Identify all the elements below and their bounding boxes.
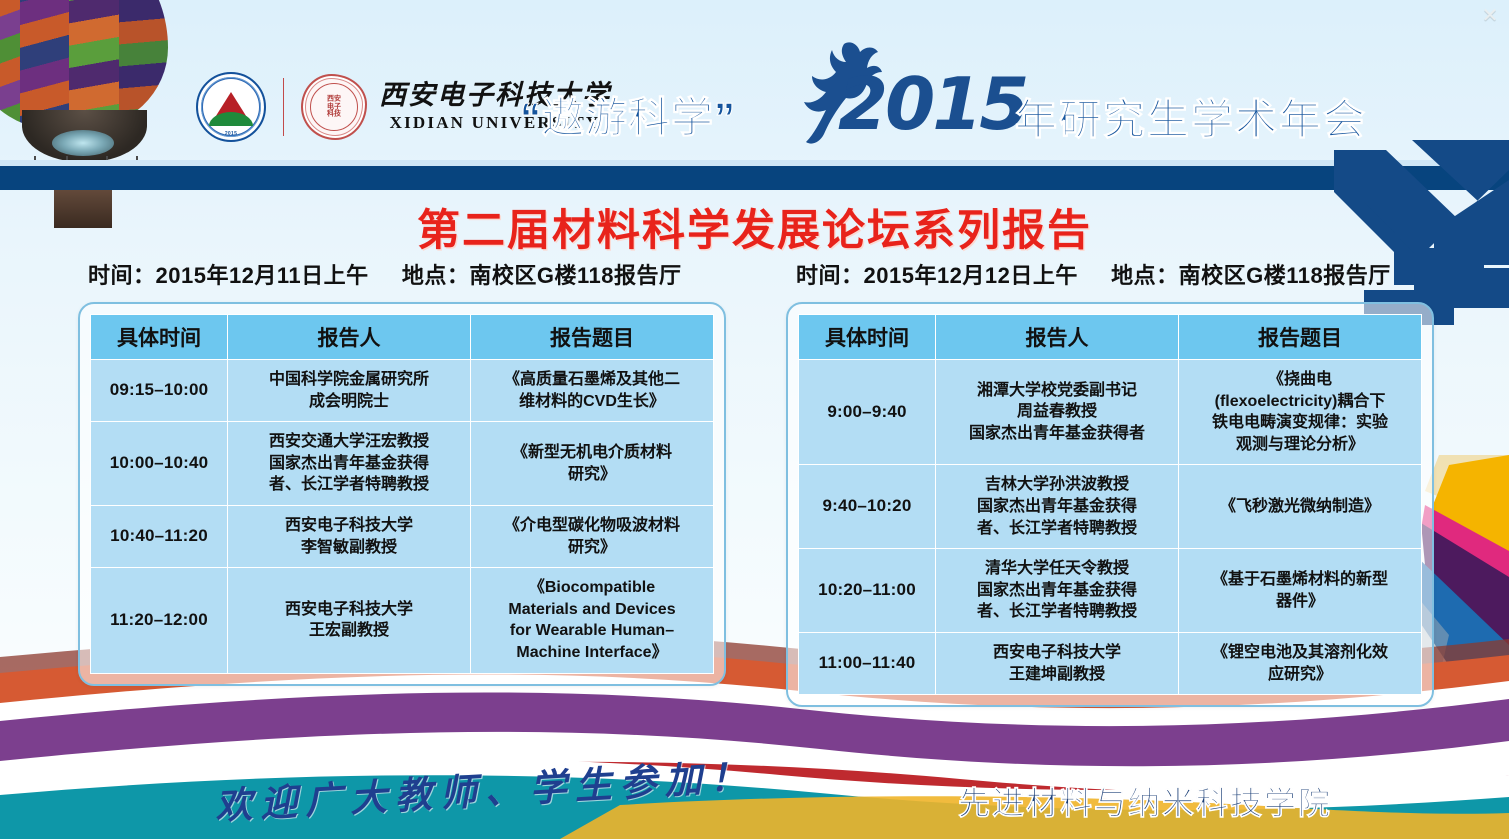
cell-time: 09:15–10:00: [91, 360, 228, 422]
logo-divider: [283, 78, 284, 136]
cell-time: 10:40–11:20: [91, 505, 228, 567]
year-logo-graphic: 2015: [800, 38, 1010, 146]
cell-time: 10:20–11:00: [799, 549, 936, 633]
table-row: 09:15–10:00 中国科学院金属研究所成会明院士 《高质量石墨烯及其他二维…: [91, 360, 714, 422]
schedule-day2: 时间：2015年12月12日上午 地点：南校区G楼118报告厅 具体时间 报告人…: [786, 258, 1434, 707]
emblem-year-label: 2015: [225, 131, 237, 137]
welcome-message: 欢迎广大教师、学生参加！: [213, 746, 755, 830]
cell-speaker: 西安电子科技大学王宏副教授: [228, 568, 471, 673]
header-rule-dark: [0, 166, 1509, 190]
page-title: 第二届材料科学发展论坛系列报告: [0, 196, 1509, 258]
poster-header: 2015 西安电子科技 西安电子科技大学 XIDIAN UNIVERSITY “…: [0, 0, 1509, 166]
day2-meta: 时间：2015年12月12日上午 地点：南校区G楼118报告厅: [796, 258, 1434, 290]
column-header-speaker: 报告人: [936, 315, 1179, 360]
column-header-speaker: 报告人: [228, 315, 471, 360]
cell-title: 《高质量石墨烯及其他二维材料的CVD生长》: [471, 360, 714, 422]
conference-slogan: “遨游科学”: [520, 84, 736, 145]
cell-speaker: 中国科学院金属研究所成会明院士: [228, 360, 471, 422]
cell-title: 《介电型碳化物吸波材料研究》: [471, 505, 714, 567]
cell-title: 《BiocompatibleMaterials and Devicesfor W…: [471, 568, 714, 673]
table-row: 10:00–10:40 西安交通大学汪宏教授国家杰出青年基金获得者、长江学者特聘…: [91, 422, 714, 506]
schedule-day1: 时间：2015年12月11日上午 地点：南校区G楼118报告厅 具体时间 报告人…: [78, 258, 726, 686]
day1-place-label: 地点：南校区G楼118报告厅: [402, 263, 682, 288]
day2-place-label: 地点：南校区G楼118报告厅: [1111, 263, 1391, 288]
conference-title-suffix: 年研究生学术年会: [1015, 86, 1367, 147]
cell-title: 《锂空电池及其溶剂化效应研究》: [1179, 632, 1422, 694]
table-header-row: 具体时间 报告人 报告题目: [799, 315, 1422, 360]
cell-time: 10:00–10:40: [91, 422, 228, 506]
day1-meta: 时间：2015年12月11日上午 地点：南校区G楼118报告厅: [88, 258, 726, 290]
column-header-title: 报告题目: [1179, 315, 1422, 360]
table-header-row: 具体时间 报告人 报告题目: [91, 315, 714, 360]
cell-speaker: 西安交通大学汪宏教授国家杰出青年基金获得者、长江学者特聘教授: [228, 422, 471, 506]
cell-title: 《新型无机电介质材料研究》: [471, 422, 714, 506]
column-header-time: 具体时间: [799, 315, 936, 360]
cell-time: 9:00–9:40: [799, 360, 936, 465]
column-header-time: 具体时间: [91, 315, 228, 360]
table-row: 9:40–10:20 吉林大学孙洪波教授国家杰出青年基金获得者、长江学者特聘教授…: [799, 465, 1422, 549]
day2-time-label: 时间：2015年12月12日上午: [796, 263, 1078, 288]
cell-speaker: 清华大学任天令教授国家杰出青年基金获得者、长江学者特聘教授: [936, 549, 1179, 633]
cell-speaker: 西安电子科技大学王建坤副教授: [936, 632, 1179, 694]
table-row: 9:00–9:40 湘潭大学校党委副书记周益春教授国家杰出青年基金获得者 《挠曲…: [799, 360, 1422, 465]
poster-canvas: 2015 西安电子科技 西安电子科技大学 XIDIAN UNIVERSITY “…: [0, 0, 1509, 839]
cell-title: 《基于石墨烯材料的新型器件》: [1179, 549, 1422, 633]
conference-emblem-icon: 2015: [196, 72, 266, 142]
cell-speaker: 西安电子科技大学李智敏副教授: [228, 505, 471, 567]
cell-title: 《飞秒激光微纳制造》: [1179, 465, 1422, 549]
column-header-title: 报告题目: [471, 315, 714, 360]
cell-time: 11:20–12:00: [91, 568, 228, 673]
organizing-college: 先进材料与纳米科技学院: [958, 778, 1332, 824]
table-row: 11:20–12:00 西安电子科技大学王宏副教授 《Biocompatible…: [91, 568, 714, 673]
cell-title: 《挠曲电(flexoelectricity)耦合下铁电电畴演变规律：实验观测与理…: [1179, 360, 1422, 465]
xidian-seal-icon: 西安电子科技: [301, 74, 367, 140]
table-row: 10:20–11:00 清华大学任天令教授国家杰出青年基金获得者、长江学者特聘教…: [799, 549, 1422, 633]
table-row: 11:00–11:40 西安电子科技大学王建坤副教授 《锂空电池及其溶剂化效应研…: [799, 632, 1422, 694]
close-icon[interactable]: ✕: [1479, 5, 1501, 27]
day2-table-container: 具体时间 报告人 报告题目 9:00–9:40 湘潭大学校党委副书记周益春教授国…: [786, 302, 1434, 707]
cell-time: 11:00–11:40: [799, 632, 936, 694]
cell-speaker: 吉林大学孙洪波教授国家杰出青年基金获得者、长江学者特聘教授: [936, 465, 1179, 549]
day1-table-container: 具体时间 报告人 报告题目 09:15–10:00 中国科学院金属研究所成会明院…: [78, 302, 726, 686]
cell-time: 9:40–10:20: [799, 465, 936, 549]
day1-time-label: 时间：2015年12月11日上午: [88, 263, 369, 288]
table-row: 10:40–11:20 西安电子科技大学李智敏副教授 《介电型碳化物吸波材料研究…: [91, 505, 714, 567]
year-number: 2015: [838, 68, 1026, 140]
day2-table: 具体时间 报告人 报告题目 9:00–9:40 湘潭大学校党委副书记周益春教授国…: [798, 314, 1422, 695]
cell-speaker: 湘潭大学校党委副书记周益春教授国家杰出青年基金获得者: [936, 360, 1179, 465]
day1-table: 具体时间 报告人 报告题目 09:15–10:00 中国科学院金属研究所成会明院…: [90, 314, 714, 674]
